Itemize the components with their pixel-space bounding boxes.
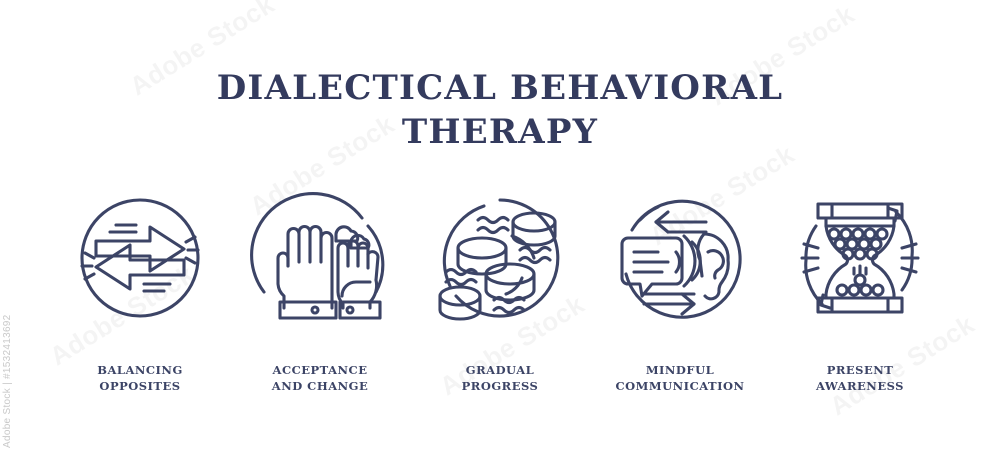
label-cell-acceptance-and-change: ACCEPTANCE AND CHANGE [230, 362, 410, 394]
wave-line [520, 248, 550, 253]
fist-crease [342, 282, 370, 296]
coin-body [486, 274, 534, 300]
curved-arrow-right [896, 212, 912, 290]
falling-grain [855, 275, 865, 285]
title-line-2: THERAPY [0, 110, 1000, 154]
infographic-canvas: Adobe Stock Adobe Stock Adobe Stock Adob… [0, 0, 1000, 450]
curved-arrow-left [806, 226, 822, 304]
sand-grain [835, 239, 845, 249]
cloud-shape [336, 227, 358, 241]
spark-line [85, 274, 94, 279]
cuff-button [312, 307, 318, 313]
mindful-communication-icon [618, 196, 742, 320]
page-title: DIALECTICAL BEHAVIORAL THERAPY [0, 66, 1000, 154]
sand-grain [843, 249, 853, 259]
sand-grain [849, 285, 859, 295]
ear-outline [704, 234, 728, 299]
wave-line [478, 228, 508, 233]
icon-cell-gradual-progress[interactable] [410, 196, 590, 326]
icon-cell-present-awareness[interactable] [770, 196, 950, 326]
acceptance-and-change-icon [258, 196, 382, 320]
icon-cell-mindful-communication[interactable] [590, 196, 770, 326]
sand-grain [829, 229, 839, 239]
label-cell-present-awareness: PRESENT AWARENESS [770, 362, 950, 394]
present-awareness-icon [798, 196, 922, 320]
title-line-1: DIALECTICAL BEHAVIORAL [0, 66, 1000, 110]
spark-line [186, 258, 195, 263]
label-row: BALANCING OPPOSITES ACCEPTANCE AND CHANG… [50, 362, 950, 394]
coin-body [458, 248, 506, 274]
sand-grain [865, 229, 875, 239]
circle-arc [640, 207, 658, 220]
icon-cell-acceptance-and-change[interactable] [230, 196, 410, 326]
coin-top [458, 238, 506, 258]
palm-finger [299, 227, 310, 263]
sand-grain [855, 249, 865, 259]
label-cell-gradual-progress: GRADUAL PROGRESS [410, 362, 590, 394]
coin-top [513, 213, 555, 231]
left-arrow [96, 245, 184, 289]
label-cell-mindful-communication: MINDFUL COMMUNICATION [590, 362, 770, 394]
cuff-button [347, 307, 353, 313]
sand-grain [873, 285, 883, 295]
sand-grain [877, 229, 887, 239]
sand-grain [841, 229, 851, 239]
icon-row [50, 196, 950, 326]
item-label: PRESENT AWARENESS [770, 362, 950, 394]
gradual-progress-icon [438, 196, 562, 320]
sand-grain [867, 249, 877, 259]
ear-inner [708, 251, 723, 278]
fist-outline [370, 280, 377, 308]
item-label: ACCEPTANCE AND CHANGE [230, 362, 410, 394]
sound-wave [676, 252, 680, 272]
cuff [280, 302, 336, 318]
wave-line [478, 218, 508, 223]
icon-cell-balancing-opposites[interactable] [50, 196, 230, 326]
label-cell-balancing-opposites: BALANCING OPPOSITES [50, 362, 230, 394]
coin-top [440, 287, 480, 305]
spark-line [85, 253, 94, 258]
palm-finger [321, 233, 332, 295]
radiate-line [902, 244, 916, 248]
palm-finger [288, 229, 299, 267]
sand-grain [853, 229, 863, 239]
sand-grain [861, 285, 871, 295]
watermark-attribution: Adobe Stock | #1532413692 [2, 218, 18, 448]
right-arrow [96, 227, 184, 271]
circle-outline [82, 200, 198, 316]
item-label: BALANCING OPPOSITES [50, 362, 230, 394]
item-label: GRADUAL PROGRESS [410, 362, 590, 394]
palm-finger [310, 227, 321, 263]
inner-arc [506, 278, 522, 294]
spark-line [186, 237, 195, 242]
item-label: MINDFUL COMMUNICATION [590, 362, 770, 394]
balancing-opposites-icon [78, 196, 202, 320]
radiate-line [902, 268, 916, 272]
sand-grain [837, 285, 847, 295]
